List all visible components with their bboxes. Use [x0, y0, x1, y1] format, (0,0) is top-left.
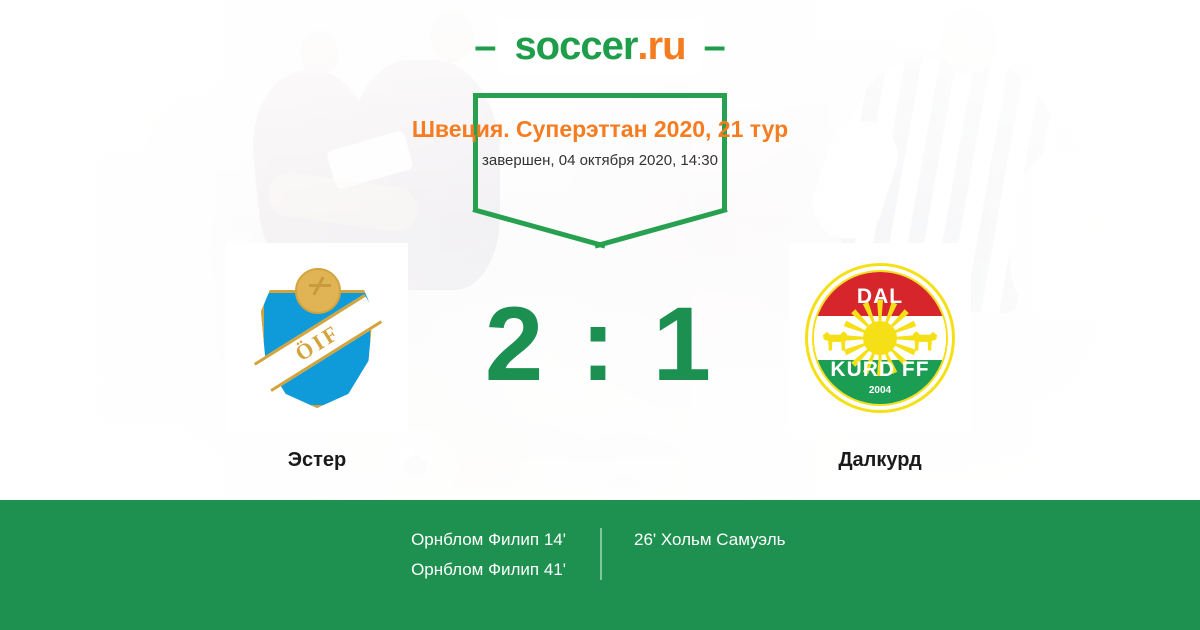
- site-logo[interactable]: – soccer .ru –: [0, 14, 1200, 78]
- away-team-name: Далкурд: [789, 449, 971, 472]
- home-team[interactable]: ÖIF Эстер: [226, 243, 408, 472]
- goals-divider: [600, 528, 602, 580]
- score-separator: :: [581, 286, 620, 403]
- oif-crest-icon: ÖIF: [255, 268, 379, 408]
- crest-ball-icon: [295, 268, 341, 314]
- away-team[interactable]: DAL KURD FF 2004 Далкурд: [789, 243, 971, 472]
- logo-tld: .ru: [637, 26, 685, 66]
- header-block: Швеция. Суперэттан 2020, 21 тур завершен…: [380, 115, 820, 169]
- logo-dash-left: –: [472, 26, 498, 66]
- crest-bottom-text: KURD FF: [814, 358, 946, 382]
- bracket-chevron-left: [472, 207, 605, 248]
- logo-dash-right: –: [702, 26, 728, 66]
- home-team-name: Эстер: [226, 449, 408, 472]
- home-goals-list: Орнблом Филип 14' Орнблом Филип 41': [0, 525, 600, 585]
- goal-item: Орнблом Филип 14': [0, 525, 566, 555]
- match-status-line: завершен, 04 октября 2020, 14:30: [380, 152, 820, 169]
- bracket-top-bar: [473, 93, 727, 98]
- home-crest-card: ÖIF: [226, 243, 408, 433]
- home-score: 2: [485, 286, 547, 403]
- match-result-card: – soccer .ru – Швеция. Суперэттан 2020, …: [0, 0, 1200, 630]
- away-crest-card: DAL KURD FF 2004: [789, 243, 971, 433]
- crest-founded-year: 2004: [814, 385, 946, 396]
- away-goals-list: 26' Хольм Самуэль: [600, 525, 1200, 555]
- tournament-title: Швеция. Суперэттан 2020, 21 тур: [380, 115, 820, 144]
- logo-wordmark: soccer: [514, 26, 637, 66]
- crest-top-text: DAL: [814, 285, 946, 309]
- away-score: 1: [653, 286, 715, 403]
- scoreline: 2 : 1: [408, 292, 792, 397]
- crest-inner-disc: DAL KURD FF 2004: [812, 270, 948, 406]
- logo-box: soccer .ru: [498, 18, 701, 74]
- goal-item: Орнблом Филип 41': [0, 555, 566, 585]
- sun-core: [863, 321, 897, 355]
- dalkurd-crest-icon: DAL KURD FF 2004: [805, 263, 955, 413]
- bracket-chevron-right: [594, 207, 727, 248]
- goal-item: 26' Хольм Самуэль: [634, 525, 1200, 555]
